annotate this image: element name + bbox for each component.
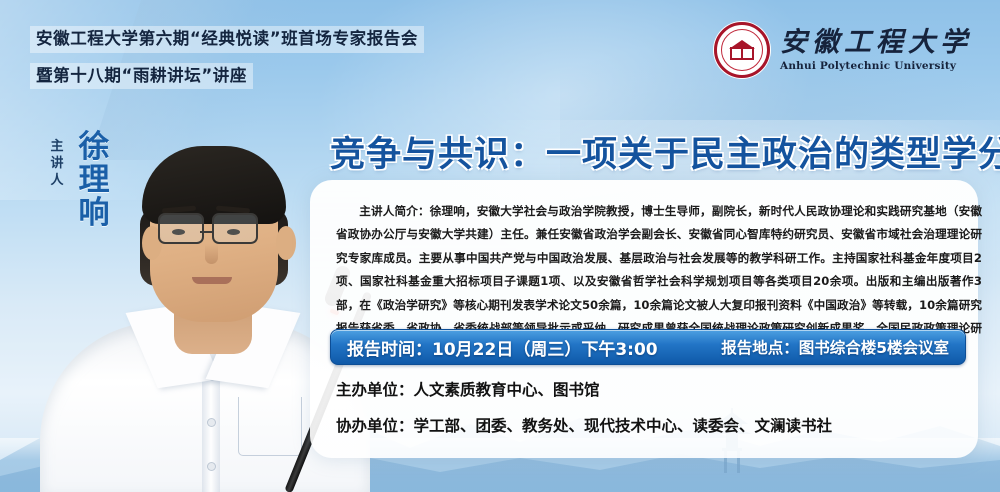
mouth: [192, 277, 232, 284]
shirt-button: [208, 419, 215, 426]
event-location: 报告地点：图书综合楼5楼会议室: [721, 336, 949, 358]
header-line-1: 安徽工程大学第六期“经典悦读”班首场专家报告会: [30, 26, 424, 53]
nose: [205, 244, 218, 264]
university-name-cn: 安徽工程大学: [780, 29, 972, 56]
speaker-name: 徐理响: [72, 131, 116, 230]
seal-block-right: [741, 47, 754, 60]
eyeglasses-right-lens: [212, 213, 258, 244]
university-name-en: Anhui Polytechnic University: [780, 61, 972, 72]
speaker-role-label: 主讲人: [47, 138, 67, 189]
eyeglasses-left-lens: [158, 213, 204, 244]
shirt-button: [208, 463, 215, 470]
event-time: 报告时间：10月22日（周三）下午3:00: [347, 335, 658, 360]
eyeglasses-bridge: [200, 231, 212, 234]
ear-right: [276, 226, 296, 260]
university-seal-icon: [714, 22, 770, 78]
header-titles: 安徽工程大学第六期“经典悦读”班首场专家报告会 暨第十八期“雨耕讲坛”讲座: [30, 26, 550, 99]
host-organizers: 主办单位：人文素质教育中心、图书馆: [336, 378, 600, 400]
university-logo: 安徽工程大学 Anhui Polytechnic University: [714, 22, 972, 78]
seal-inner-mark: [728, 40, 756, 62]
event-poster: 安徽工程大学第六期“经典悦读”班首场专家报告会 暨第十八期“雨耕讲坛”讲座 安徽…: [0, 0, 1000, 492]
co-host-organizers: 协办单位：学工部、团委、教务处、现代技术中心、读委会、文澜读书社: [336, 414, 832, 436]
shirt-pocket: [238, 397, 302, 456]
header-line-2: 暨第十八期“雨耕讲坛”讲座: [30, 63, 253, 90]
event-info-bar: 报告时间：10月22日（周三）下午3:00 报告地点：图书综合楼5楼会议室: [330, 329, 966, 365]
logo-text: 安徽工程大学 Anhui Polytechnic University: [780, 29, 972, 72]
lecture-title: 竞争与共识：一项关于民主政治的类型学分析: [330, 126, 990, 177]
